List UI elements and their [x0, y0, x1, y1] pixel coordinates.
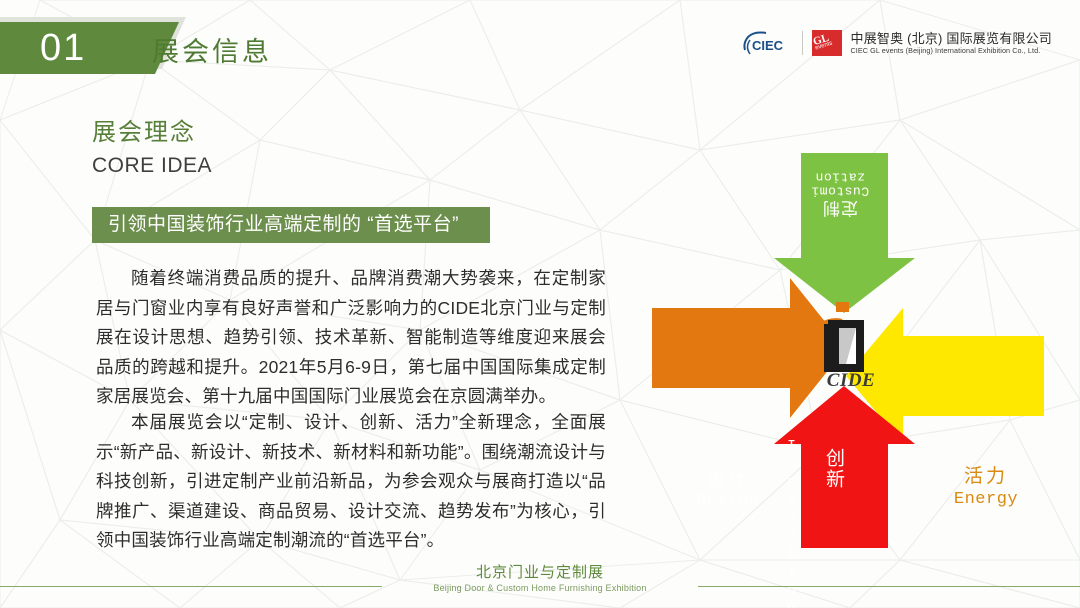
- svg-text:CIEC: CIEC: [752, 38, 784, 53]
- cide-logo-wordmark: CIDE: [806, 370, 896, 392]
- body-paragraph-1: 随着终端消费品质的提升、品牌消费潮大势袭来，在定制家居与门窗业内享有良好声誉和广…: [96, 264, 606, 412]
- footer-name-en: Beijing Door & Custom Home Furnishing Ex…: [0, 582, 1080, 594]
- corporate-logo: CIEC GL events 中展智奥 (北京) 国际展览有限公司 CIEC G…: [742, 30, 1052, 56]
- company-name-cn: 中展智奥 (北京) 国际展览有限公司: [851, 31, 1052, 46]
- gl-events-logo-icon: GL events: [812, 30, 842, 56]
- body-paragraph-2: 本届展览会以“定制、设计、创新、活力”全新理念，全面展示“新产品、新设计、新技术…: [96, 408, 606, 556]
- core-idea-heading-cn: 展会理念: [92, 112, 196, 147]
- corporate-name-block: 中展智奥 (北京) 国际展览有限公司 CIEC GL events (Beiji…: [851, 31, 1052, 56]
- company-name-en: CIEC GL events (Beijing) International E…: [851, 46, 1052, 56]
- footer-rule-right: [698, 586, 1080, 587]
- core-idea-banner-label: 引领中国装饰行业高端定制的 “首选平台”: [108, 207, 490, 243]
- ciec-logo-icon: CIEC: [742, 30, 794, 56]
- slide-root: 01 展会信息 CIEC GL events 中展智奥 (北京) 国际展览有限公…: [0, 0, 1080, 608]
- section-title: 展会信息: [152, 30, 272, 69]
- logo-divider: [802, 31, 803, 55]
- core-idea-diagram: CIDE 定制 Customi zation 设计 Desigh 活力 Ener…: [638, 148, 1058, 553]
- footer-name-cn: 北京门业与定制展: [0, 564, 1080, 582]
- core-idea-heading-en: CORE IDEA: [92, 154, 212, 178]
- footer-rule-left: [0, 586, 382, 587]
- slide-footer: 北京门业与定制展 Beijing Door & Custom Home Furn…: [0, 564, 1080, 594]
- arrow-bottom-label-cn: 创新: [820, 448, 847, 490]
- section-number: 01: [40, 22, 150, 74]
